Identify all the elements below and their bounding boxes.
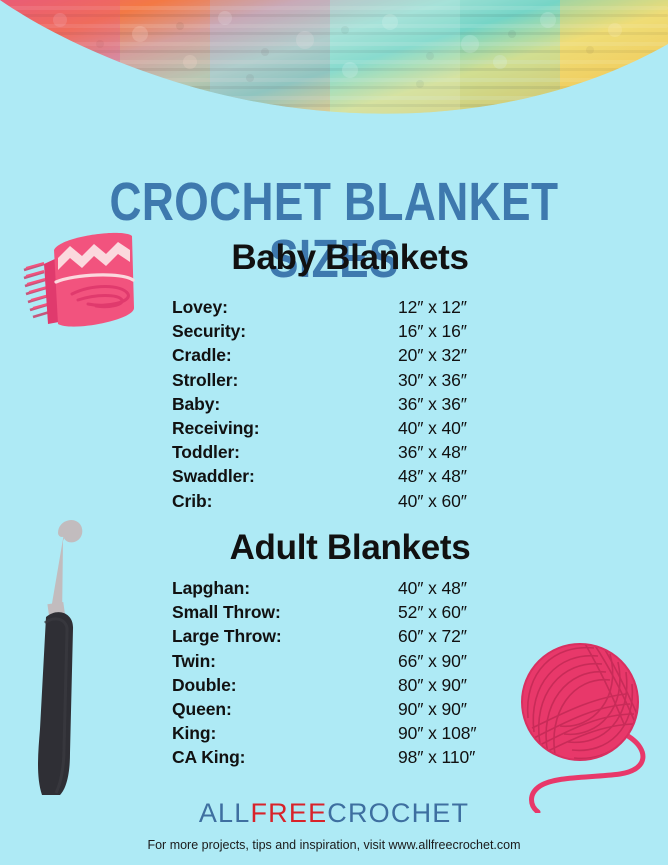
size-label: Toddler: — [172, 442, 398, 463]
section-heading-adult: Adult Blankets — [140, 528, 560, 568]
size-value: 48″ x 48″ — [398, 466, 467, 487]
size-value: 90″ x 90″ — [398, 699, 467, 720]
section-heading-baby: Baby Blankets — [140, 238, 560, 278]
size-label: Security: — [172, 321, 398, 342]
logo-free: FREE — [250, 798, 327, 828]
logo-crochet: CROCHET — [327, 798, 469, 828]
logo-all: ALL — [199, 798, 251, 828]
size-row: Toddler:36″ x 48″ — [172, 442, 502, 466]
size-row: CA King:98″ x 110″ — [172, 747, 502, 771]
size-row: Lovey:12″ x 12″ — [172, 297, 502, 321]
size-value: 36″ x 36″ — [398, 394, 467, 415]
size-list-baby: Lovey:12″ x 12″Security:16″ x 16″Cradle:… — [172, 297, 502, 515]
size-row: Double:80″ x 90″ — [172, 675, 502, 699]
size-row: Stroller:30″ x 36″ — [172, 370, 502, 394]
size-value: 40″ x 40″ — [398, 418, 467, 439]
size-value: 90″ x 108″ — [398, 723, 477, 744]
size-row: Security:16″ x 16″ — [172, 321, 502, 345]
size-row: Cradle:20″ x 32″ — [172, 345, 502, 369]
size-label: Large Throw: — [172, 626, 398, 647]
size-label: Swaddler: — [172, 466, 398, 487]
brand-logo: ALLFREECROCHET — [0, 798, 668, 829]
size-label: Queen: — [172, 699, 398, 720]
size-value: 36″ x 48″ — [398, 442, 467, 463]
size-label: Twin: — [172, 651, 398, 672]
size-row: Baby:36″ x 36″ — [172, 394, 502, 418]
size-value: 80″ x 90″ — [398, 675, 467, 696]
folded-blanket-icon — [14, 222, 144, 339]
size-value: 40″ x 60″ — [398, 491, 467, 512]
size-label: Lapghan: — [172, 578, 398, 599]
size-row: King:90″ x 108″ — [172, 723, 502, 747]
size-value: 66″ x 90″ — [398, 651, 467, 672]
size-label: Receiving: — [172, 418, 398, 439]
size-label: Crib: — [172, 491, 398, 512]
size-value: 40″ x 48″ — [398, 578, 467, 599]
size-label: King: — [172, 723, 398, 744]
size-value: 30″ x 36″ — [398, 370, 467, 391]
size-row: Lapghan:40″ x 48″ — [172, 578, 502, 602]
size-label: Cradle: — [172, 345, 398, 366]
crochet-blanket-photo — [0, 0, 668, 122]
size-row: Large Throw:60″ x 72″ — [172, 626, 502, 650]
size-label: Small Throw: — [172, 602, 398, 623]
size-list-adult: Lapghan:40″ x 48″Small Throw:52″ x 60″La… — [172, 578, 502, 772]
size-label: CA King: — [172, 747, 398, 768]
size-row: Twin:66″ x 90″ — [172, 651, 502, 675]
footer-tagline: For more projects, tips and inspiration,… — [0, 838, 668, 852]
size-row: Swaddler:48″ x 48″ — [172, 466, 502, 490]
size-value: 12″ x 12″ — [398, 297, 467, 318]
header-photo — [0, 0, 668, 122]
crochet-hook-icon — [18, 503, 130, 800]
size-row: Crib:40″ x 60″ — [172, 491, 502, 515]
size-label: Baby: — [172, 394, 398, 415]
size-row: Receiving:40″ x 40″ — [172, 418, 502, 442]
size-label: Lovey: — [172, 297, 398, 318]
size-value: 20″ x 32″ — [398, 345, 467, 366]
size-value: 60″ x 72″ — [398, 626, 467, 647]
size-row: Small Throw:52″ x 60″ — [172, 602, 502, 626]
size-row: Queen:90″ x 90″ — [172, 699, 502, 723]
yarn-ball-icon — [498, 628, 668, 818]
size-label: Stroller: — [172, 370, 398, 391]
size-value: 16″ x 16″ — [398, 321, 467, 342]
size-label: Double: — [172, 675, 398, 696]
size-value: 98″ x 110″ — [398, 747, 475, 768]
size-value: 52″ x 60″ — [398, 602, 467, 623]
